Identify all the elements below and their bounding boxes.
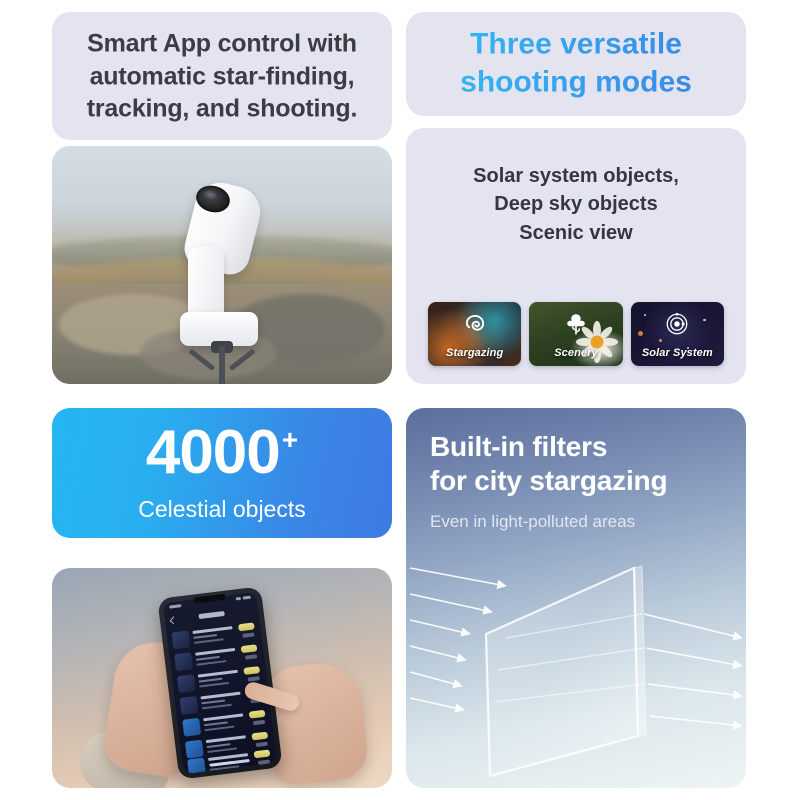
tripod-leg (229, 349, 256, 371)
count-number-wrap: 4000+ (52, 422, 392, 484)
count-plus-symbol: + (282, 424, 298, 456)
orbit-icon (664, 311, 690, 337)
headline-text: Smart App control with automatic star-fi… (52, 27, 392, 125)
list-item-action-button[interactable] (243, 666, 260, 675)
headline-panel: Smart App control with automatic star-fi… (52, 12, 392, 140)
modes-list-line-2: Deep sky objects (406, 190, 746, 218)
headline-line-1: Smart App control with (64, 27, 380, 60)
spiral-galaxy-icon (462, 311, 488, 337)
celestial-count-panel: 4000+ Celestial objects (52, 408, 392, 538)
modes-list-line-3: Scenic view (406, 219, 746, 247)
mode-card-stargazing[interactable]: Stargazing (428, 302, 521, 366)
modes-title-panel: Three versatile shooting modes (406, 12, 746, 116)
count-label: Celestial objects (52, 496, 392, 523)
app-screen-title (198, 611, 224, 619)
modes-list-text: Solar system objects, Deep sky objects S… (406, 162, 746, 247)
tripod-leg (188, 349, 215, 371)
list-item-action-button[interactable] (241, 644, 258, 653)
telescope-product: Seestar S30 (162, 184, 282, 364)
modes-title-text: Three versatile shooting modes (406, 26, 746, 103)
flower-icon (563, 311, 589, 337)
star-dot (644, 314, 646, 316)
smartphone (157, 586, 282, 779)
list-item-action-button[interactable] (238, 622, 255, 631)
mode-card-scenery[interactable]: Scenery (529, 302, 622, 366)
filters-title: Built-in filters for city stargazing (430, 430, 730, 498)
infographic-page: Smart App control with automatic star-fi… (0, 0, 800, 800)
list-item-action-button[interactable] (251, 732, 268, 741)
headline-line-2: automatic star-finding, (64, 60, 380, 93)
app-photo-panel (52, 568, 392, 788)
mode-card-solar-system[interactable]: Solar System (631, 302, 724, 366)
back-chevron-icon[interactable] (170, 616, 178, 624)
filters-subtitle: Even in light-polluted areas (430, 512, 730, 532)
mode-card-caption: Solar System (631, 347, 724, 359)
tripod (186, 344, 258, 384)
mode-card-caption: Stargazing (428, 347, 521, 359)
star-dot (703, 319, 706, 322)
modes-title-line-2: shooting modes (416, 64, 736, 102)
list-item-action-button[interactable] (254, 749, 271, 758)
headline-line-3: tracking, and shooting. (64, 92, 380, 125)
filters-title-line-1: Built-in filters (430, 430, 730, 464)
modes-list-line-1: Solar system objects, (406, 162, 746, 190)
mode-card-caption: Scenery (529, 347, 622, 359)
count-number: 4000 (146, 422, 280, 484)
modes-detail-panel: Solar system objects, Deep sky objects S… (406, 128, 746, 384)
product-photo-panel: Seestar S30 (52, 146, 392, 384)
planet-dot (659, 339, 662, 342)
filters-panel: Built-in filters for city stargazing Eve… (406, 408, 746, 788)
filters-title-line-2: for city stargazing (430, 464, 730, 498)
tripod-leg (219, 346, 225, 384)
list-item-action-button[interactable] (249, 710, 266, 719)
modes-title-line-1: Three versatile (416, 26, 736, 64)
mode-thumbnail-row: Stargazing (428, 302, 724, 366)
